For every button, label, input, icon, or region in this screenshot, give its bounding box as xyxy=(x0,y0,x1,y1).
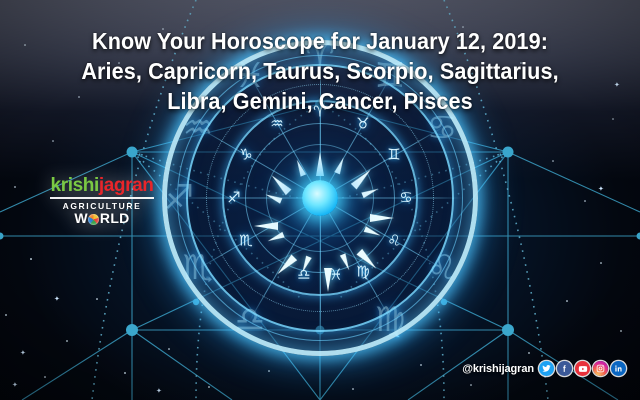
zodiac-glyph-scorpio: ♏ xyxy=(239,234,252,249)
logo-world-prefix: W xyxy=(74,211,88,226)
krishijagran-logo[interactable]: krishijagran AGRICULTURE W RLD xyxy=(40,176,164,226)
social-bar: @krishijagran xyxy=(462,361,626,376)
title-line-1: Know Your Horoscope for January 12, 2019… xyxy=(42,26,598,56)
logo-word-krishi: krishi xyxy=(51,175,99,196)
facebook-icon[interactable] xyxy=(557,361,572,376)
horoscope-banner: ✦ ✦ ✦ ✦ ✦ ✦ ✦ ♒ ♓ ♈ ♊ ♋ ♌ ♍ ♎ ♏ ♐ xyxy=(0,0,640,400)
globe-icon xyxy=(88,214,99,225)
zodiac-glyph-taurus: ♉ xyxy=(356,117,369,132)
zodiac-glyph-leo: ♌ xyxy=(387,234,400,249)
zodiac-glyph-virgo: ♍ xyxy=(356,265,369,280)
sun-core xyxy=(302,180,338,216)
zodiac-glyph-aquarius: ♒ xyxy=(270,117,283,132)
zodiac-glyph-cancer: ♋ xyxy=(399,191,412,206)
title-line-3: Libra, Gemini, Cancer, Pisces xyxy=(42,86,598,116)
linkedin-icon[interactable] xyxy=(611,361,626,376)
zodiac-glyph-sagittarius: ♐ xyxy=(227,191,240,206)
title-line-2: Aries, Capricorn, Taurus, Scorpio, Sagit… xyxy=(42,56,598,86)
zodiac-glyph-gemini: ♊ xyxy=(387,148,400,163)
youtube-icon[interactable] xyxy=(575,361,590,376)
logo-word-jagran: jagran xyxy=(99,175,154,196)
logo-world-suffix: RLD xyxy=(100,211,130,226)
logo-wordmark: krishijagran xyxy=(40,176,164,196)
logo-tagline-world: W RLD xyxy=(40,211,164,226)
sun-icon xyxy=(274,152,366,244)
social-handle: @krishijagran xyxy=(462,363,534,375)
zodiac-glyph-capricorn: ♑ xyxy=(239,148,252,163)
twitter-icon[interactable] xyxy=(539,361,554,376)
page-title: Know Your Horoscope for January 12, 2019… xyxy=(19,26,621,116)
logo-divider xyxy=(50,197,154,199)
instagram-icon[interactable] xyxy=(593,361,608,376)
